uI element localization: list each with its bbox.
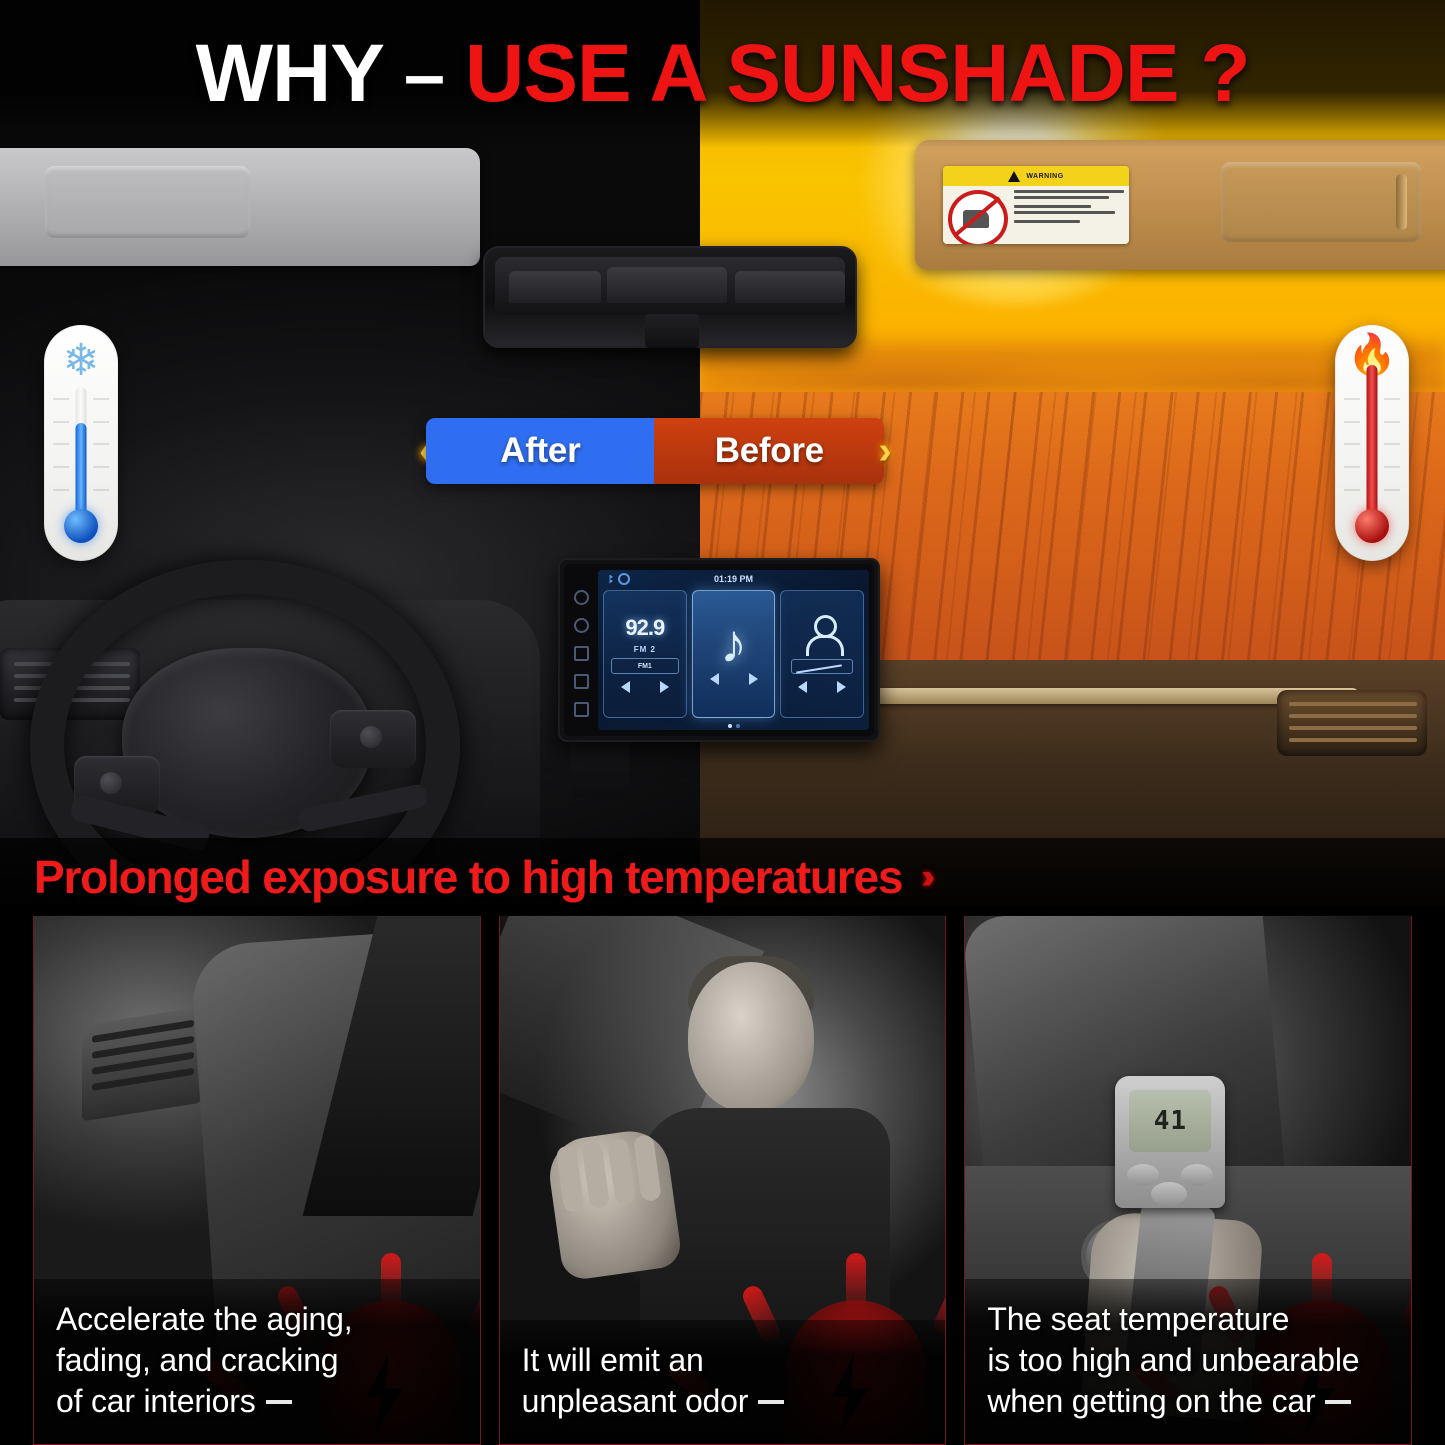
panel-odor: It will emit an unpleasant odor (499, 915, 947, 1445)
radio-card[interactable]: 92.9 FM 2 FM1 (603, 590, 687, 718)
caption-line: when getting on the car (987, 1383, 1315, 1419)
before-button[interactable]: Before (654, 418, 884, 484)
profile-card[interactable] (780, 590, 864, 718)
radio-prev-button[interactable] (621, 681, 630, 693)
air-vent-right (1277, 690, 1427, 756)
person-icon (805, 615, 839, 655)
caption-line: unpleasant odor (522, 1383, 749, 1419)
panel-seat-temperature: 41 The seat temperature is too high and … (964, 915, 1412, 1445)
caption-underscore (1325, 1400, 1351, 1404)
rearview-mirror (483, 246, 857, 348)
airbag-warning-label: WARNING (943, 166, 1129, 244)
page-title: WHY – USE A SUNSHADE ? (0, 0, 1445, 148)
hot-thermometer: 🔥 (1335, 325, 1409, 561)
caption-underscore (266, 1400, 292, 1404)
profile-next-button[interactable] (837, 681, 846, 693)
power-button[interactable] (574, 590, 589, 605)
title-word-sunshade: USE A SUNSHADE ? (465, 27, 1249, 121)
person-head-detail (688, 962, 814, 1112)
head-unit-side-buttons[interactable] (564, 564, 598, 736)
thermometer-gun-reading: 41 (1154, 1106, 1187, 1136)
sun-visor-right: WARNING (915, 140, 1445, 270)
caption-line: of car interiors (56, 1383, 256, 1419)
media-prev-button[interactable] (710, 673, 719, 685)
sun-visor-left (0, 148, 480, 266)
clock: 01:19 PM (598, 574, 869, 584)
caption-underscore (758, 1400, 784, 1404)
status-bar: 01:19 PM (598, 570, 869, 588)
headline-text: Prolonged exposure to high temperatures (34, 850, 902, 904)
apps-button[interactable] (574, 674, 589, 689)
panel-caption: It will emit an unpleasant odor (500, 1320, 946, 1444)
consequence-panels: Accelerate the aging, fading, and cracki… (0, 915, 1445, 1445)
title-word-why: WHY (196, 27, 384, 121)
thermometer-gun-display: 41 (1129, 1090, 1211, 1152)
profile-slider[interactable] (791, 659, 853, 674)
page-indicator (598, 724, 869, 728)
panel-caption: The seat temperature is too high and unb… (965, 1279, 1411, 1444)
product-infographic: WARNING (0, 0, 1445, 1445)
cold-thermometer: ❄ (44, 325, 118, 561)
right-chevrons-icon: ›› (884, 432, 885, 470)
snowflake-icon: ❄ (63, 339, 100, 383)
media-card[interactable]: ♪ (692, 590, 776, 718)
profile-prev-button[interactable] (798, 681, 807, 693)
headline-chevrons-icon: ››› (926, 860, 930, 894)
warning-triangle-icon (1008, 171, 1020, 182)
volume-button[interactable] (574, 646, 589, 661)
music-note-icon: ♪ (720, 623, 747, 666)
after-button[interactable]: After (426, 418, 654, 484)
radio-band: FM 2 (634, 645, 656, 654)
panel-caption: Accelerate the aging, fading, and cracki… (34, 1279, 480, 1444)
caption-line: Accelerate the aging, (56, 1299, 458, 1340)
panel-interior-aging: Accelerate the aging, fading, and cracki… (33, 915, 481, 1445)
title-dash: – (404, 32, 445, 117)
headline-band: Prolonged exposure to high temperatures … (0, 838, 1445, 916)
caption-line: is too high and unbearable (987, 1340, 1389, 1381)
hand-detail (545, 1126, 683, 1281)
no-child-seat-icon (948, 190, 1008, 244)
caption-line: fading, and cracking (56, 1340, 458, 1381)
radio-preset[interactable]: FM1 (611, 658, 679, 674)
home-button[interactable] (574, 702, 589, 717)
infotainment-screen[interactable]: 01:19 PM 92.9 FM 2 FM1 ♪ (598, 570, 869, 730)
radio-next-button[interactable] (660, 681, 669, 693)
caption-line: It will emit an (522, 1340, 924, 1381)
caption-line: The seat temperature (987, 1299, 1389, 1340)
infrared-thermometer-gun: 41 (1115, 1076, 1225, 1208)
infotainment-head-unit[interactable]: 01:19 PM 92.9 FM 2 FM1 ♪ (558, 558, 880, 742)
vent-detail-icon (82, 1006, 202, 1121)
menu-button[interactable] (574, 618, 589, 633)
media-next-button[interactable] (749, 673, 758, 685)
radio-frequency: 92.9 (625, 615, 664, 641)
head-unit-mount (570, 735, 630, 797)
before-after-toggle[interactable]: ‹‹ After Before ›› (425, 418, 886, 484)
warning-label-heading: WARNING (1026, 173, 1063, 180)
